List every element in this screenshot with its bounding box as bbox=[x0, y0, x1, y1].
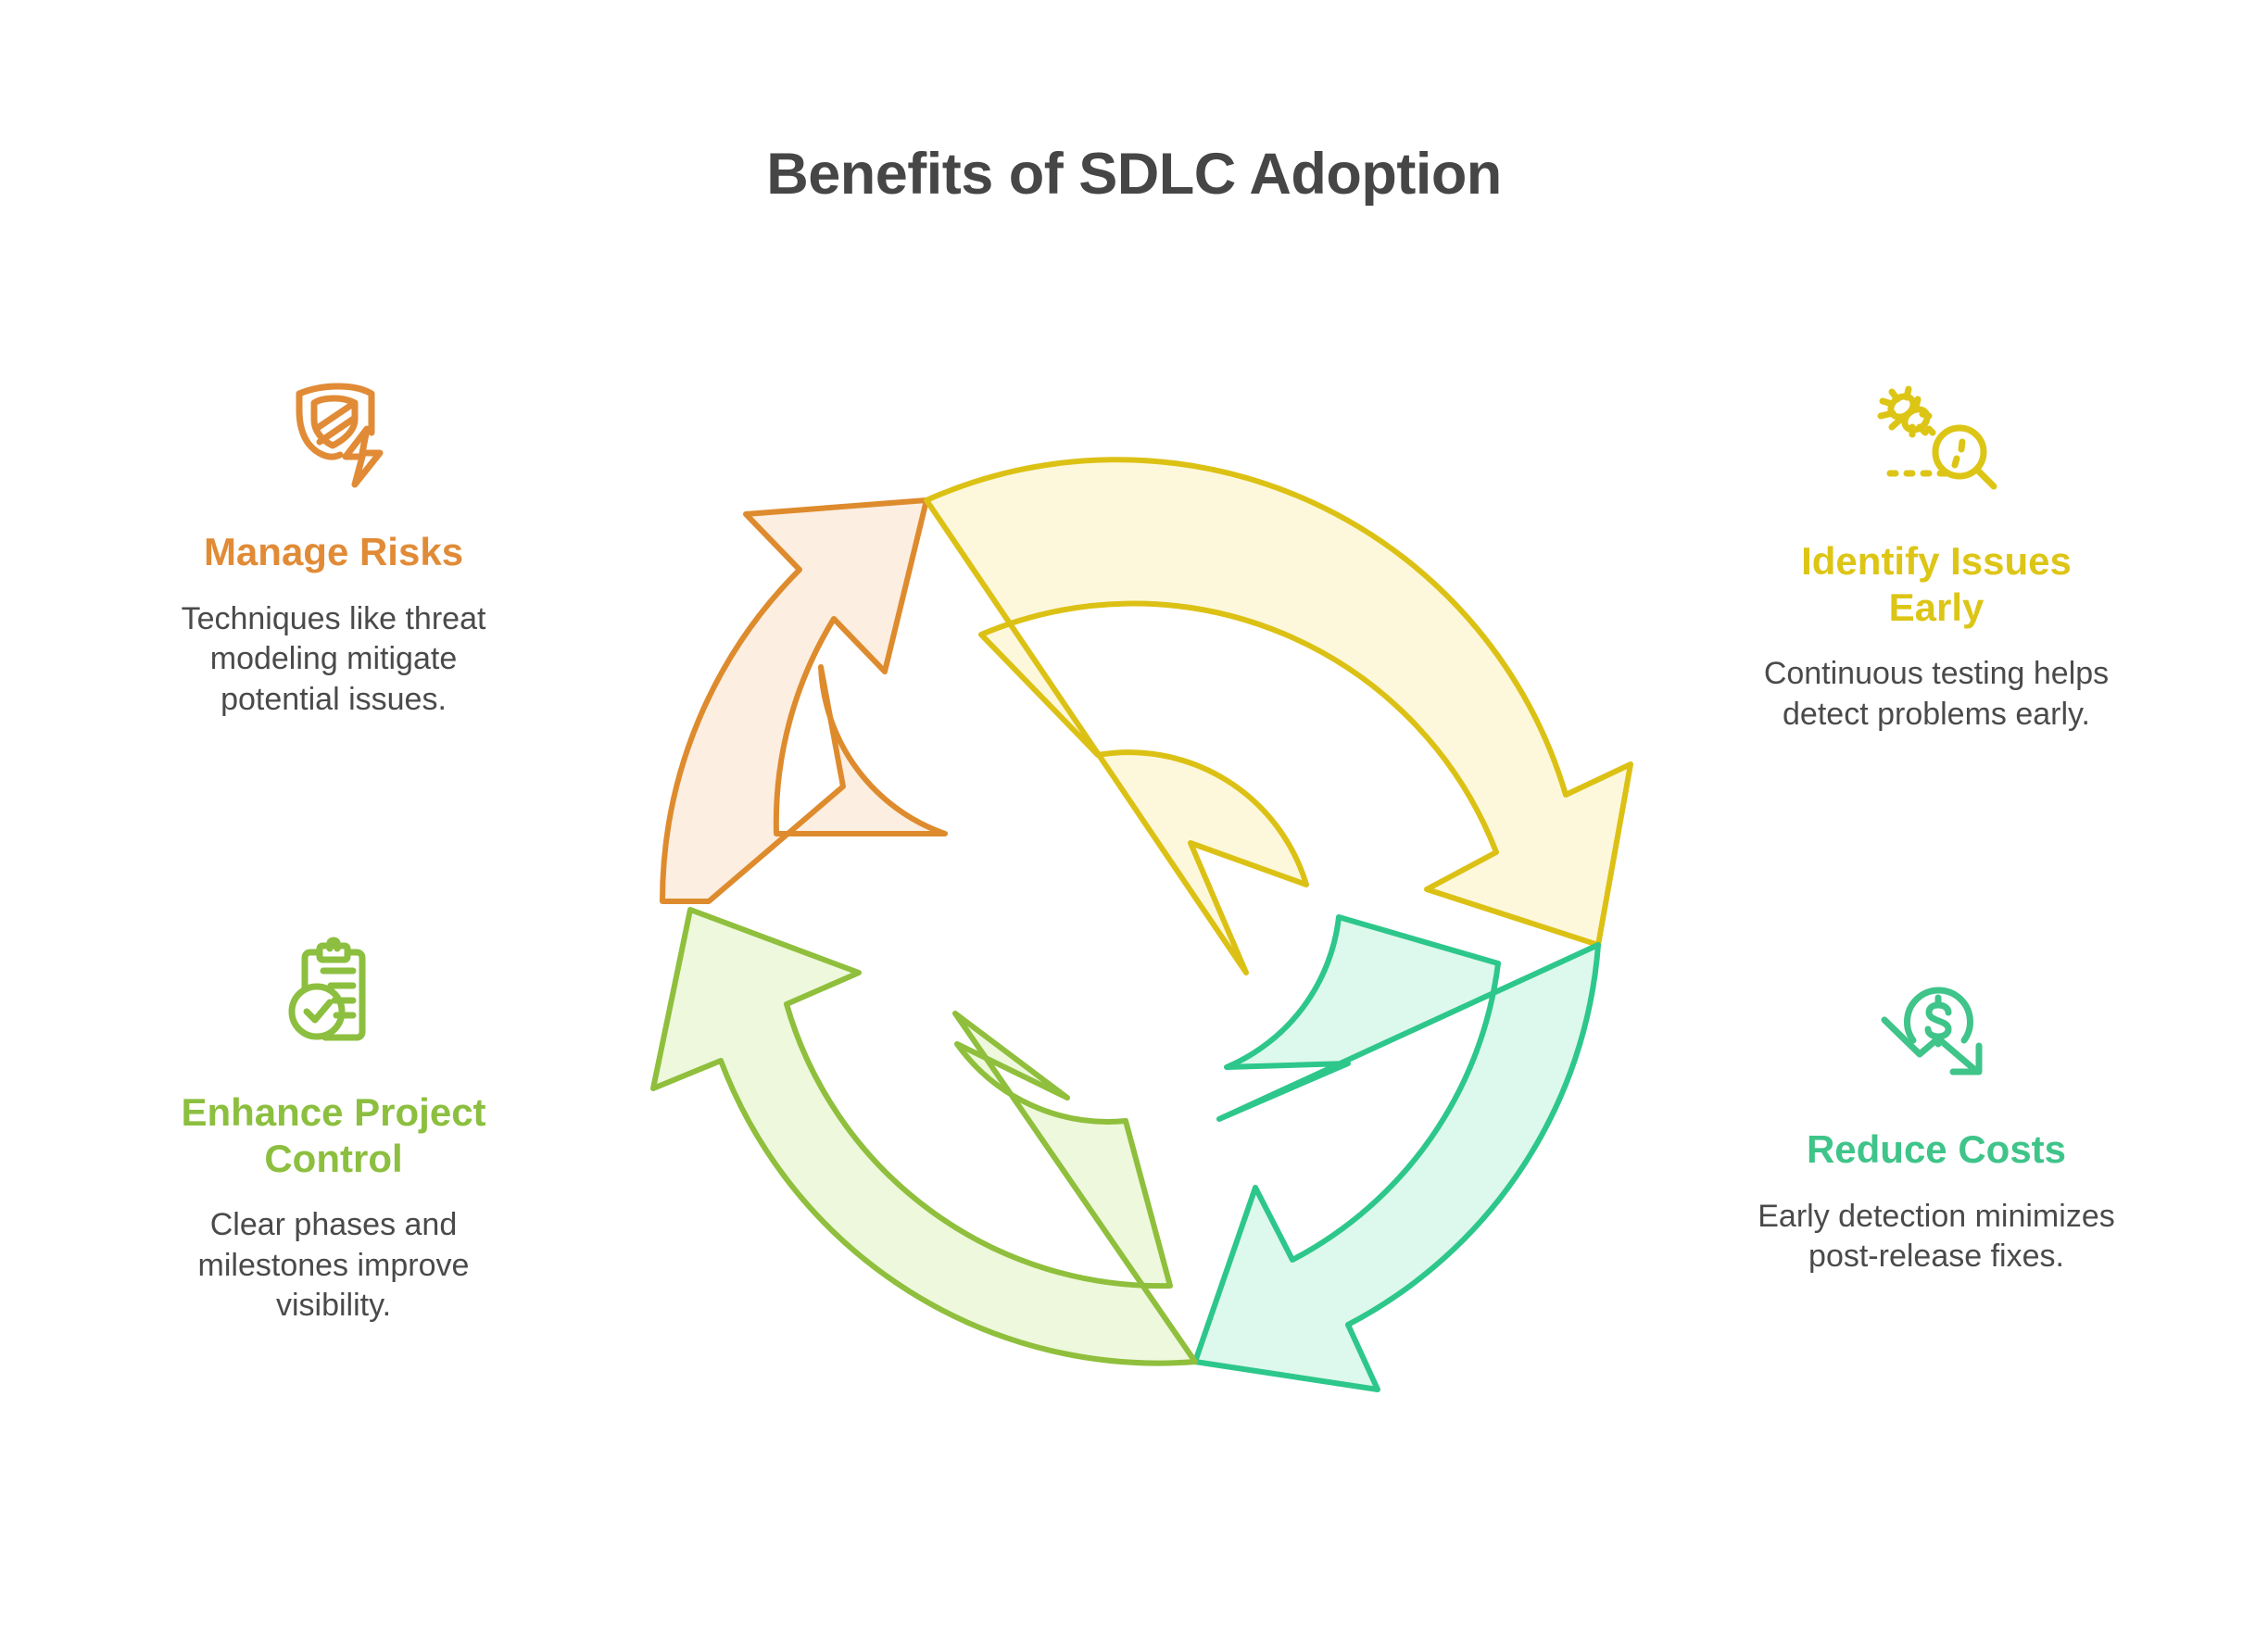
cycle-segment-identify-issues bbox=[926, 459, 1631, 973]
benefit-card-reduce-costs: Reduce Costs Early detection minimizes p… bbox=[1751, 963, 2122, 1277]
benefit-body-reduce-costs: Early detection minimizes post-release f… bbox=[1751, 1197, 2122, 1277]
shield-bolt-icon bbox=[148, 366, 519, 505]
page-title: Benefits of SDLC Adoption bbox=[0, 141, 2268, 208]
cost-down-arrow-icon bbox=[1751, 963, 2122, 1102]
benefit-heading-manage-risks: Manage Risks bbox=[148, 529, 519, 575]
sdlc-benefits-cycle-diagram bbox=[607, 371, 1663, 1445]
cycle-segment-reduce-costs bbox=[1195, 917, 1598, 1390]
benefit-body-manage-risks: Techniques like threat modeling mitigate… bbox=[148, 599, 519, 721]
benefit-card-enhance-control: Enhance Project Control Clear phases and… bbox=[148, 926, 519, 1327]
benefit-heading-reduce-costs: Reduce Costs bbox=[1751, 1126, 2122, 1173]
cycle-segment-manage-risks bbox=[662, 500, 945, 901]
bug-magnifier-icon bbox=[1751, 375, 2122, 514]
cycle-segment-enhance-control bbox=[653, 910, 1195, 1364]
benefit-card-manage-risks: Manage Risks Techniques like threat mode… bbox=[148, 366, 519, 720]
benefit-body-identify-issues: Continuous testing helps detect problems… bbox=[1751, 654, 2122, 735]
clipboard-check-icon bbox=[148, 926, 519, 1065]
benefit-card-identify-issues: Identify Issues Early Continuous testing… bbox=[1751, 375, 2122, 735]
benefit-heading-enhance-control: Enhance Project Control bbox=[148, 1089, 519, 1181]
benefit-heading-identify-issues: Identify Issues Early bbox=[1751, 538, 2122, 630]
benefit-body-enhance-control: Clear phases and milestones improve visi… bbox=[148, 1205, 519, 1327]
